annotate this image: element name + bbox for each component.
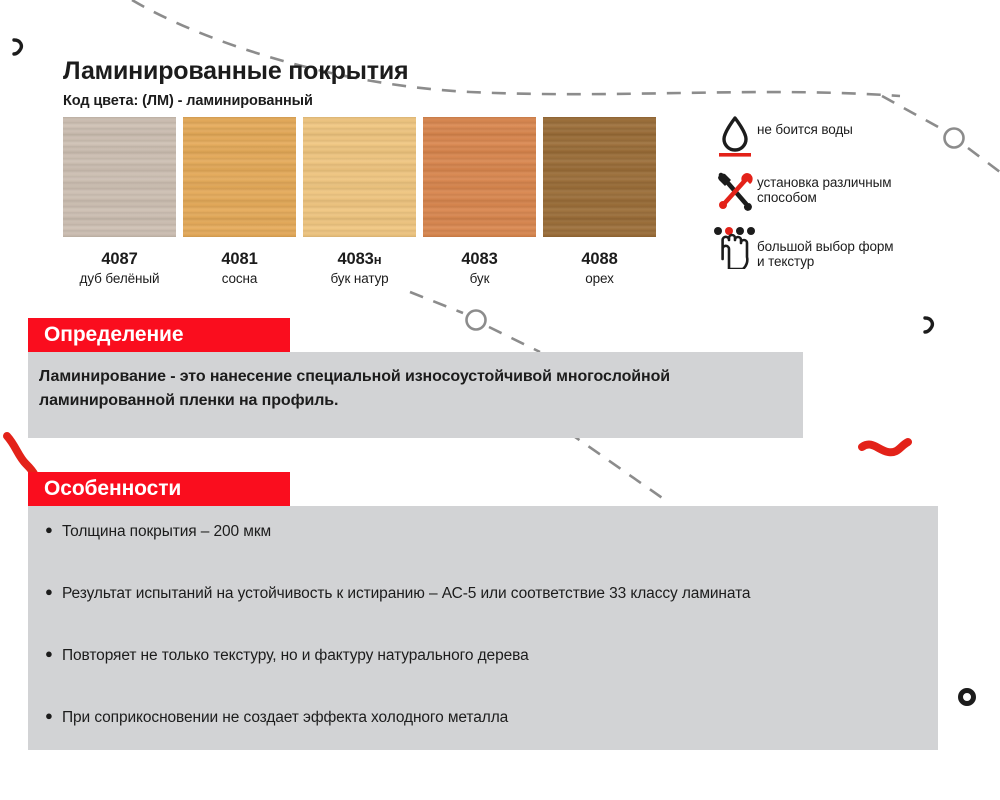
- hand-pointing-dots-icon: [713, 225, 757, 269]
- water-drop-icon: [713, 113, 757, 157]
- dashed-node-circle-middle: [467, 311, 486, 330]
- swatch-name: бук натур: [330, 271, 388, 286]
- feature-bullet-text: Толщина покрытия – 200 мкм: [62, 523, 271, 540]
- page-title: Ламинированные покрытия: [63, 58, 408, 86]
- comma-mark-right: [925, 318, 932, 332]
- feature-bullet-item: ●Результат испытаний на устойчивость к и…: [45, 582, 925, 606]
- feature-bullet-item: ●Толщина покрытия – 200 мкм: [45, 520, 925, 544]
- swatch-name: орех: [585, 271, 614, 286]
- dashed-curve-lower: [568, 432, 668, 502]
- features-bullet-list: ●Толщина покрытия – 200 мкм●Результат ис…: [45, 520, 925, 768]
- dashed-curve-middle-tail: [489, 327, 540, 352]
- swatch-name: сосна: [222, 271, 258, 286]
- feature-label-variety: большой выбор форм и текстур: [757, 225, 893, 269]
- feature-bullet-text: При соприкосновении не создает эффекта х…: [62, 709, 508, 726]
- red-squiggle-right: [862, 442, 908, 452]
- feature-item-install: установка различным способом: [713, 169, 963, 213]
- feature-list: не боится воды установка различным спосо…: [713, 113, 963, 281]
- bullet-icon: ●: [45, 582, 53, 603]
- dashed-curve-middle: [410, 292, 463, 313]
- swatch-cell[interactable]: 4083нбук натур: [303, 117, 416, 286]
- swatch-cell[interactable]: 4088орех: [543, 117, 656, 286]
- swatch-name: дуб белёный: [80, 271, 160, 286]
- comma-mark-top-left: [14, 40, 21, 54]
- swatch-code: 4083: [461, 250, 497, 269]
- feature-bullet-item: ●При соприкосновении не создает эффекта …: [45, 706, 925, 730]
- wood-swatch-oak-white[interactable]: [63, 117, 176, 237]
- wood-swatch-beech-natural[interactable]: [303, 117, 416, 237]
- feature-label-install: установка различным способом: [757, 169, 891, 205]
- page-subtitle: Код цвета: (ЛМ) - ламинированный: [63, 93, 408, 109]
- section-tab-definition: Определение: [28, 318, 290, 352]
- swatch-cell[interactable]: 4083бук: [423, 117, 536, 286]
- swatch-name: бук: [470, 271, 490, 286]
- infographic-page: Ламинированные покрытия Код цвета: (ЛМ) …: [0, 0, 1000, 800]
- feature-bullet-text: Повторяет не только текстуру, но и факту…: [62, 647, 529, 664]
- bullet-icon: ●: [45, 520, 53, 541]
- swatch-cell[interactable]: 4087дуб белёный: [63, 117, 176, 286]
- bullet-icon: ●: [45, 644, 53, 665]
- feature-label-water: не боится воды: [757, 113, 853, 137]
- feature-item-variety: большой выбор форм и текстур: [713, 225, 963, 269]
- feature-item-water: не боится воды: [713, 113, 963, 157]
- wood-swatch-walnut[interactable]: [543, 117, 656, 237]
- wood-swatch-pine[interactable]: [183, 117, 296, 237]
- definition-text: Ламинирование - это нанесение специально…: [39, 365, 759, 412]
- feature-bullet-text: Результат испытаний на устойчивость к ис…: [62, 585, 750, 602]
- wood-swatch-beech[interactable]: [423, 117, 536, 237]
- dashed-curve-upper-right-tail: [968, 148, 1000, 172]
- swatch-code: 4088: [581, 250, 617, 269]
- swatch-code: 4087: [101, 250, 137, 269]
- color-swatch-row: 4087дуб белёный4081сосна4083нбук натур40…: [63, 117, 656, 286]
- tools-hammer-wrench-icon: [713, 169, 757, 213]
- swatch-code: 4081: [221, 250, 257, 269]
- section-tab-features: Особенности: [28, 472, 290, 506]
- swatch-cell[interactable]: 4081сосна: [183, 117, 296, 286]
- swatch-code-suffix: н: [374, 252, 382, 267]
- ring-mark-bottom-right: [961, 691, 974, 704]
- swatch-code: 4083н: [337, 250, 381, 269]
- header-block: Ламинированные покрытия Код цвета: (ЛМ) …: [63, 58, 408, 109]
- feature-bullet-item: ●Повторяет не только текстуру, но и факт…: [45, 644, 925, 668]
- bullet-icon: ●: [45, 706, 53, 727]
